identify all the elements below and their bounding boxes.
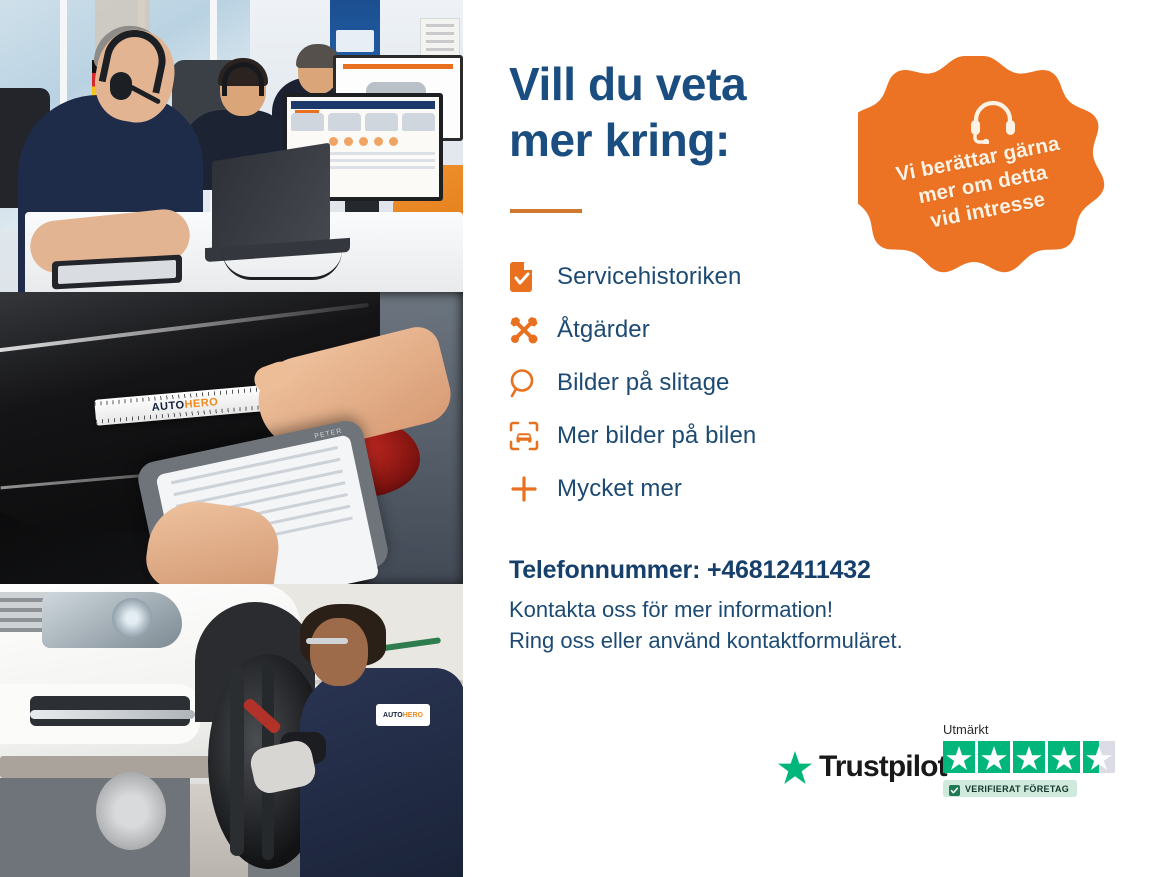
content-panel: Vill du veta mer kring: Servicehistorike…: [463, 0, 1170, 877]
headset-icon: [966, 96, 1020, 144]
document-check-icon: [509, 262, 557, 292]
feature-item-atgarder: Åtgärder: [509, 303, 939, 356]
feature-label: Bilder på slitage: [557, 369, 729, 397]
contact-block: Telefonnummer: +46812411432 Kontakta oss…: [509, 556, 1069, 656]
star-tile-2: [978, 741, 1010, 773]
title-divider: [510, 209, 582, 213]
brand-patch-part2: HERO: [403, 712, 423, 719]
photo-wheel-service: AUTOHERO: [0, 584, 463, 877]
feature-item-mycket-mer: Mycket mer: [509, 462, 939, 515]
verified-check-icon: [949, 783, 960, 794]
feature-item-bilder-pa-slitage: Bilder på slitage: [509, 356, 939, 409]
car-scan-icon: [509, 421, 557, 451]
info-badge: Vi berättar gärna mer om detta vid intre…: [858, 50, 1108, 300]
verified-badge: VERIFIERAT FÖRETAG: [943, 780, 1077, 797]
star-tile-4: [1048, 741, 1080, 773]
photo-call-center: [0, 0, 463, 292]
feature-label: Mycket mer: [557, 475, 682, 503]
contact-line-2: Ring oss eller använd kontaktformuläret.: [509, 625, 1069, 656]
page-title: Vill du veta mer kring:: [509, 56, 746, 168]
plus-icon: [509, 474, 557, 504]
photo-inspection: AUTOHERO PETER: [0, 292, 463, 584]
trustpilot-wordmark: Trustpilot: [819, 750, 947, 784]
feature-label: Åtgärder: [557, 316, 650, 344]
phone-number[interactable]: Telefonnummer: +46812411432: [509, 556, 1069, 585]
star-tile-5-half: [1083, 741, 1115, 773]
rating-label: Utmärkt: [943, 722, 1138, 737]
trustpilot-logo: Trustpilot: [778, 750, 947, 784]
trustpilot-rating: Utmärkt: [943, 722, 1138, 801]
tools-icon: [509, 315, 557, 345]
verified-label: VERIFIERAT FÖRETAG: [965, 784, 1069, 794]
photo-column: AUTOHERO PETER AUTOHERO: [0, 0, 463, 877]
brand-patch-part1: AUTO: [383, 712, 403, 719]
trustpilot-star-icon: [778, 751, 812, 784]
star-tile-1: [943, 741, 975, 773]
star-tile-3: [1013, 741, 1045, 773]
trustpilot-widget[interactable]: Trustpilot Utmärkt: [778, 722, 1138, 822]
contact-line-1: Kontakta oss för mer information!: [509, 594, 1069, 625]
magnifier-icon: [509, 368, 557, 398]
star-rating: [943, 741, 1138, 773]
feature-label: Servicehistoriken: [557, 263, 741, 291]
feature-label: Mer bilder på bilen: [557, 422, 756, 450]
feature-item-mer-bilder-pa-bilen: Mer bilder på bilen: [509, 409, 939, 462]
